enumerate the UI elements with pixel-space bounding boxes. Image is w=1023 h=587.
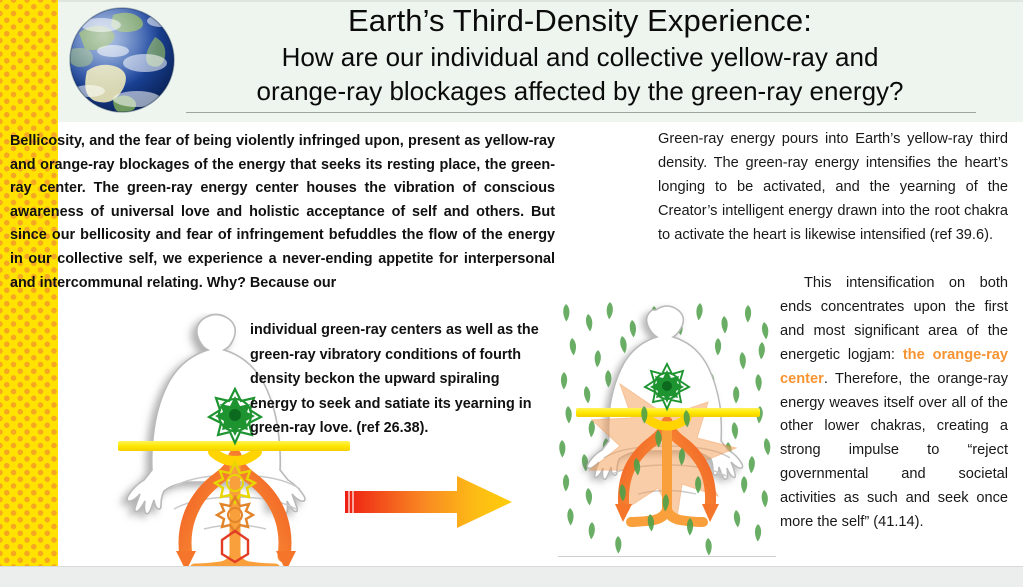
right-paragraph-1-text: Green-ray energy pours into Earth’s yell…	[658, 128, 1008, 248]
bottom-status-strip	[0, 566, 1023, 587]
left-indented-paragraph: individual green-ray centers as well as …	[250, 318, 550, 441]
title-underline	[186, 112, 976, 113]
slide-title: Earth’s Third-Density Experience: How ar…	[180, 2, 980, 120]
transition-arrow	[345, 474, 513, 530]
yellow-ray-blockage-bar	[576, 408, 760, 417]
title-line-3: orange-ray blockages affected by the gre…	[180, 74, 980, 108]
title-line-1: Earth’s Third-Density Experience:	[180, 2, 980, 40]
right-paragraph-2-after: . Therefore, the orange-ray energy weave…	[780, 371, 1008, 530]
earth-globe-icon	[67, 3, 177, 115]
slide-canvas: Earth’s Third-Density Experience: How ar…	[0, 0, 1023, 587]
right-body-paragraph-1: Green-ray energy pours into Earth’s yell…	[658, 128, 1008, 248]
right-body-paragraph-2: This intensification on both ends concen…	[780, 272, 1008, 535]
title-line-2: How are our individual and collective ye…	[180, 40, 980, 74]
meditating-figure-green-ray-rain	[558, 298, 776, 557]
left-body-paragraph: Bellicosity, and the fear of being viole…	[10, 130, 555, 295]
